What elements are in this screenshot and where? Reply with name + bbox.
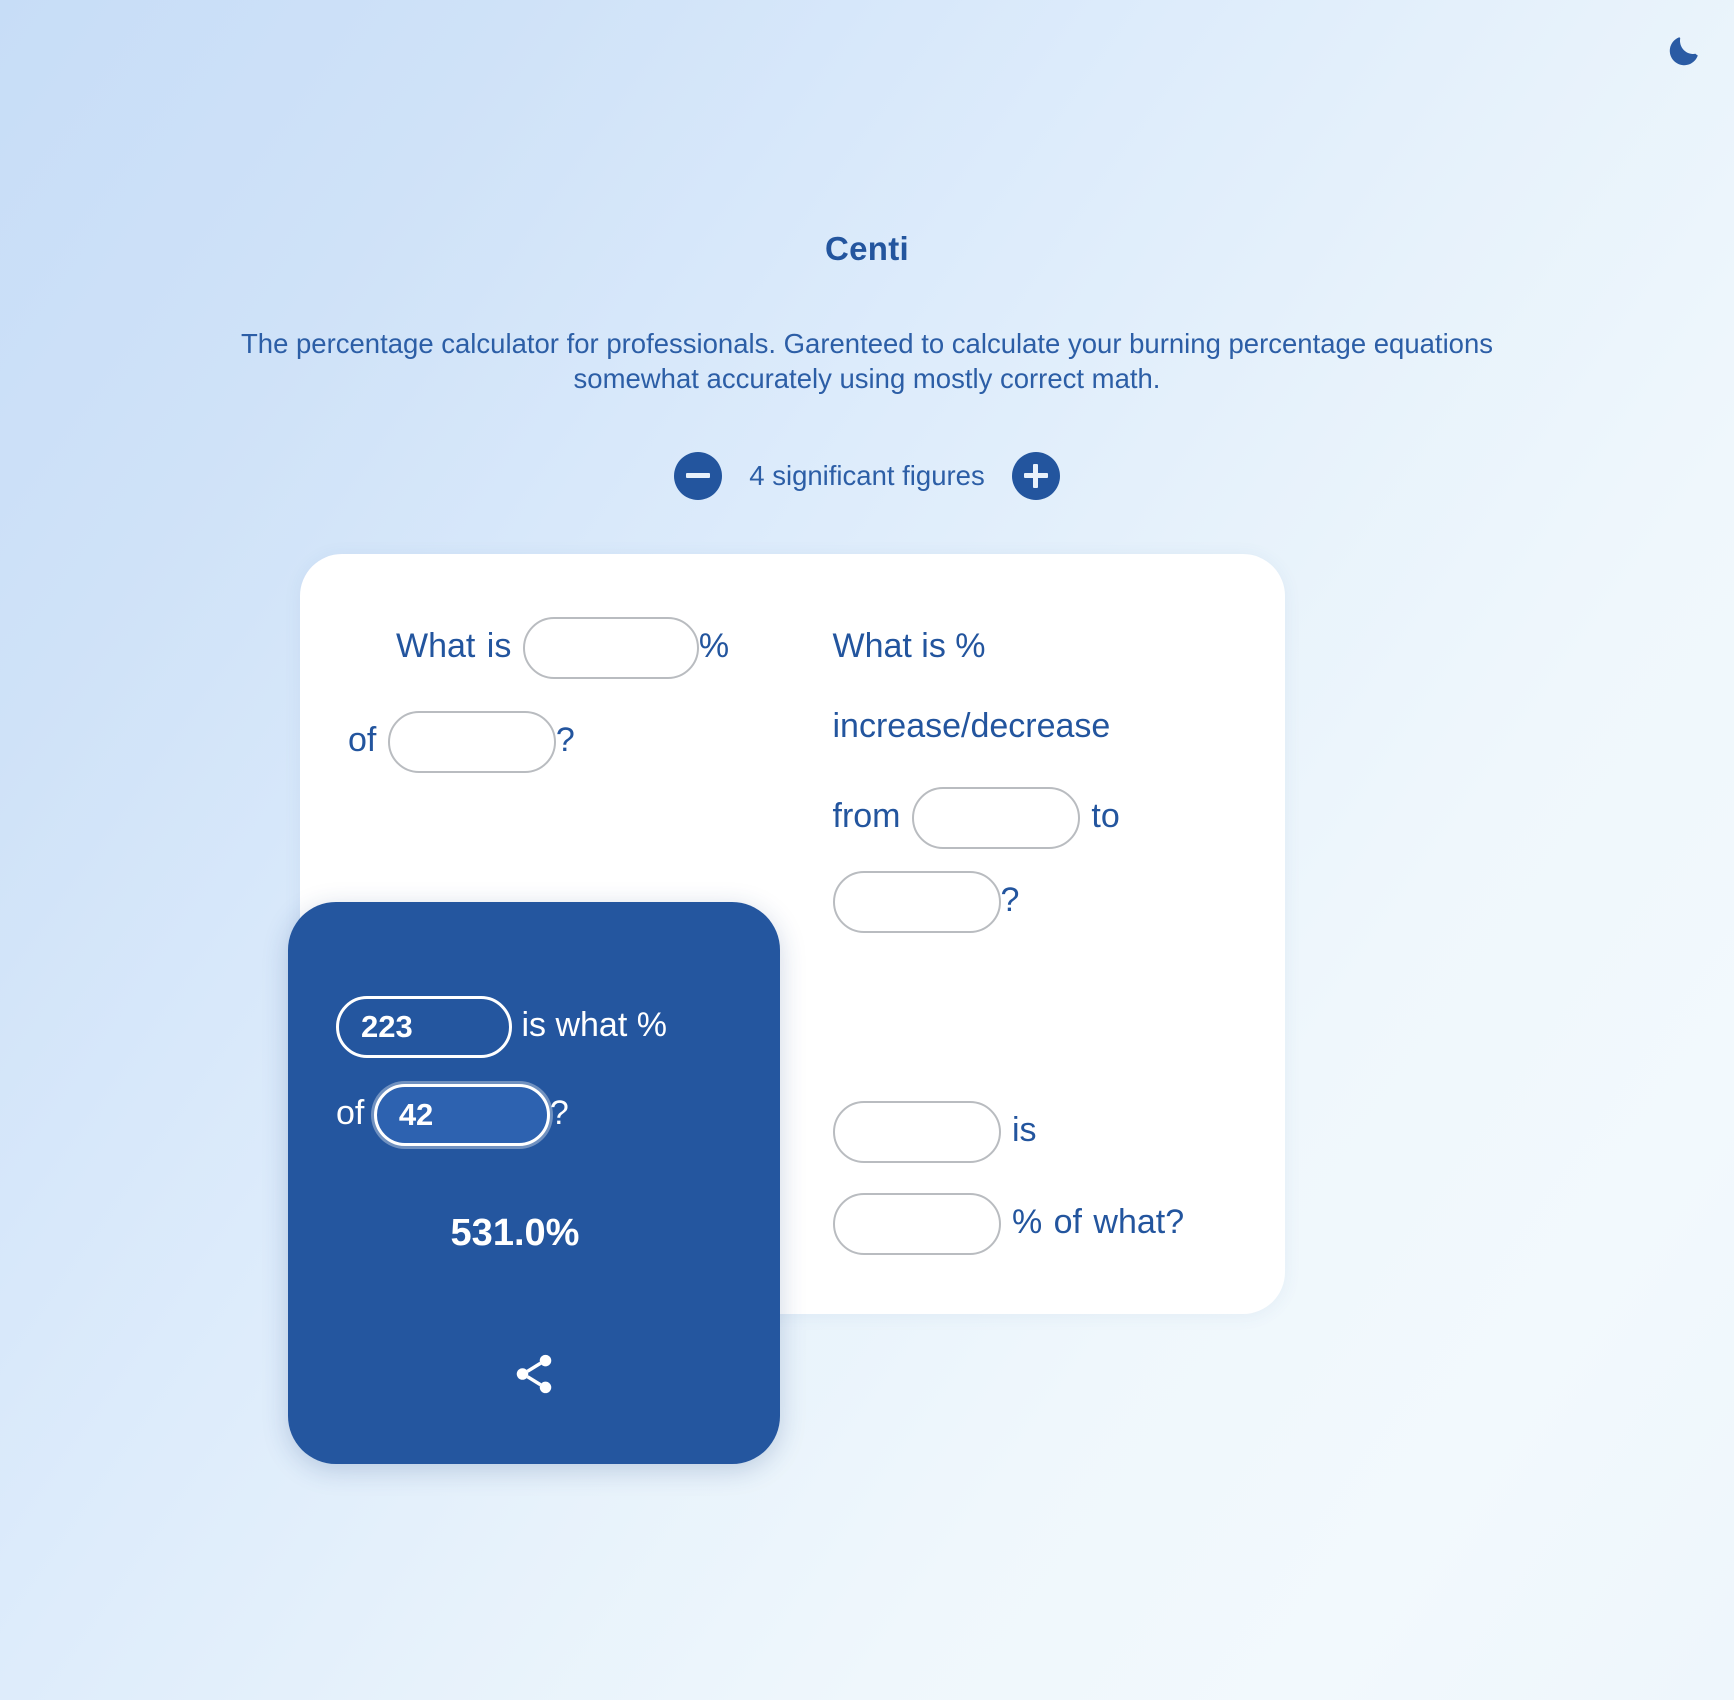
page-root: Centi The percentage calculator for prof… — [0, 0, 1734, 1434]
percent-change-line-1: What is % — [833, 606, 1256, 686]
plus-circle-icon-vertical — [1033, 464, 1038, 488]
percent-of-of-label: of — [348, 721, 376, 759]
dark-mode-toggle[interactable] — [1654, 18, 1716, 80]
percent-of-what-line-2: % of what? — [833, 1182, 1256, 1262]
percent-of-percent-symbol: % — [699, 627, 729, 665]
decrease-sigfigs-button[interactable] — [674, 452, 722, 500]
is-what-percent-numerator-input[interactable] — [336, 996, 512, 1058]
is-what-percent-of-label: of — [336, 1094, 364, 1132]
significant-figures-control: 4 significant figures — [674, 446, 1059, 506]
is-what-percent-question-mark: ? — [550, 1094, 569, 1132]
result-value: 531.0% — [288, 1212, 780, 1255]
percent-of-what-percent-input[interactable] — [833, 1193, 1001, 1255]
share-button[interactable] — [502, 1344, 566, 1408]
percent-of-line-1: What is % — [396, 606, 763, 686]
percent-of-what-value-input[interactable] — [833, 1101, 1001, 1163]
moon-icon — [1663, 27, 1707, 71]
result-calculator-card: is what % of ? 531.0% — [288, 902, 780, 1464]
result-actions — [288, 1344, 780, 1408]
percent-of-percent-input[interactable] — [523, 617, 699, 679]
percent-change-from-input[interactable] — [912, 787, 1080, 849]
is-what-percent-line-1: is what % — [288, 986, 780, 1064]
is-what-percent-line-2: of ? — [288, 1074, 780, 1152]
minus-circle-icon — [686, 473, 710, 478]
percent-change-question-mark: ? — [1001, 881, 1020, 919]
app-tagline: The percentage calculator for profession… — [222, 327, 1512, 397]
percent-change-to-input[interactable] — [833, 871, 1001, 933]
percent-of-what-line-1: is — [833, 1090, 1256, 1170]
percent-of-line-2: of ? — [348, 700, 763, 780]
page-title: Centi — [825, 232, 909, 265]
percent-of-base-input[interactable] — [388, 711, 556, 773]
is-what-percent-middle-label: is what % — [521, 1006, 667, 1044]
significant-figures-label: 4 significant figures — [749, 460, 984, 492]
is-what-percent-denominator-input[interactable] — [374, 1084, 550, 1146]
increase-sigfigs-button[interactable] — [1012, 452, 1060, 500]
calculators-area: What is % of ? What is % increase/decrea… — [0, 554, 1734, 1434]
percent-of-lead-label: What is — [396, 627, 511, 665]
column-spacer — [833, 940, 1256, 1090]
calculator-column-right: What is % increase/decrease from to ? is… — [793, 554, 1286, 1314]
percent-change-from-label: from — [833, 797, 901, 835]
percent-of-what-is-label: is — [1012, 1111, 1037, 1149]
percent-change-to-label: to — [1091, 797, 1119, 835]
percent-of-question-mark: ? — [556, 721, 575, 759]
percent-change-line-3: from to — [833, 776, 1256, 856]
percent-change-line-2: increase/decrease — [833, 686, 1256, 766]
percent-of-what-label: % of what? — [1012, 1203, 1184, 1241]
share-icon — [511, 1351, 557, 1400]
percent-change-line-4: ? — [833, 860, 1256, 940]
